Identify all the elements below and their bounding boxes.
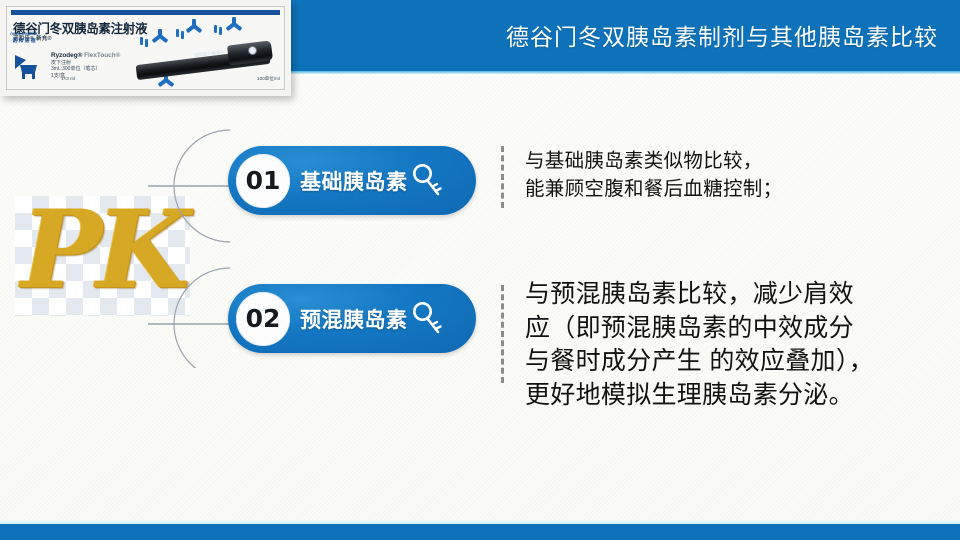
- list-item-premixed-insulin[interactable]: 02 预混胰岛素: [228, 284, 476, 353]
- product-volume-note: 1×3 ml: [61, 76, 75, 81]
- molecule-icon: [184, 17, 204, 37]
- molecule-icon: [224, 15, 244, 35]
- product-package-inner: 德谷门冬双胰岛素注射液 诺和佳® 新充® novo nordisk 诺 和 诺 …: [6, 6, 285, 90]
- brand-name: novo nordisk: [7, 31, 41, 36]
- spec-brand: Ryzodeg®: [51, 52, 82, 59]
- product-units-note: 100单位/ml: [257, 76, 280, 82]
- brand-name-cn: 诺 和 诺 德: [7, 37, 41, 44]
- item-label: 预混胰岛素: [300, 304, 408, 334]
- item-number-badge: 02: [236, 292, 290, 346]
- description-line: 与预混胰岛素比较，减少肩效: [525, 278, 935, 312]
- key-icon: [410, 161, 444, 201]
- description-line: 与基础胰岛素类似物比较，: [525, 148, 945, 176]
- slide-canvas: 德谷门冬双胰岛素制剂与其他胰岛素比较 德谷门冬双胰岛素注射液 诺和佳® 新充® …: [0, 0, 960, 540]
- molecule-icon: [150, 27, 170, 47]
- spec-strength: 3mL:300单位（笔芯）: [51, 66, 120, 73]
- footer-band: [0, 524, 960, 540]
- description-premixed-insulin: 与预混胰岛素比较，减少肩效 应（即预混胰岛素的中效成分 与餐时成分产生 的效应叠…: [525, 278, 935, 412]
- description-line: 更好地模拟生理胰岛素分泌。: [525, 379, 935, 413]
- description-line: 应（即预混胰岛素的中效成分: [525, 312, 935, 346]
- novo-nordisk-bull-logo-icon: [13, 55, 43, 85]
- product-package-image: 德谷门冬双胰岛素注射液 诺和佳® 新充® novo nordisk 诺 和 诺 …: [0, 0, 291, 96]
- page-title: 德谷门冬双胰岛素制剂与其他胰岛素比较: [506, 18, 938, 52]
- description-basal-insulin: 与基础胰岛素类似物比较， 能兼顾空腹和餐后血糖控制；: [525, 148, 945, 203]
- spec-brand-suffix: FlexTouch®: [84, 52, 120, 59]
- item-number-badge: 01: [236, 154, 290, 208]
- divider-dashed-2: [501, 285, 504, 383]
- description-line: 能兼顾空腹和餐后血糖控制；: [525, 176, 945, 204]
- item-label: 基础胰岛素: [300, 166, 408, 196]
- list-item-basal-insulin[interactable]: 01 基础胰岛素: [228, 146, 476, 215]
- key-icon: [410, 299, 444, 339]
- description-line: 与餐时成分产生 的效应叠加），: [525, 345, 935, 379]
- divider-dashed-1: [501, 146, 504, 208]
